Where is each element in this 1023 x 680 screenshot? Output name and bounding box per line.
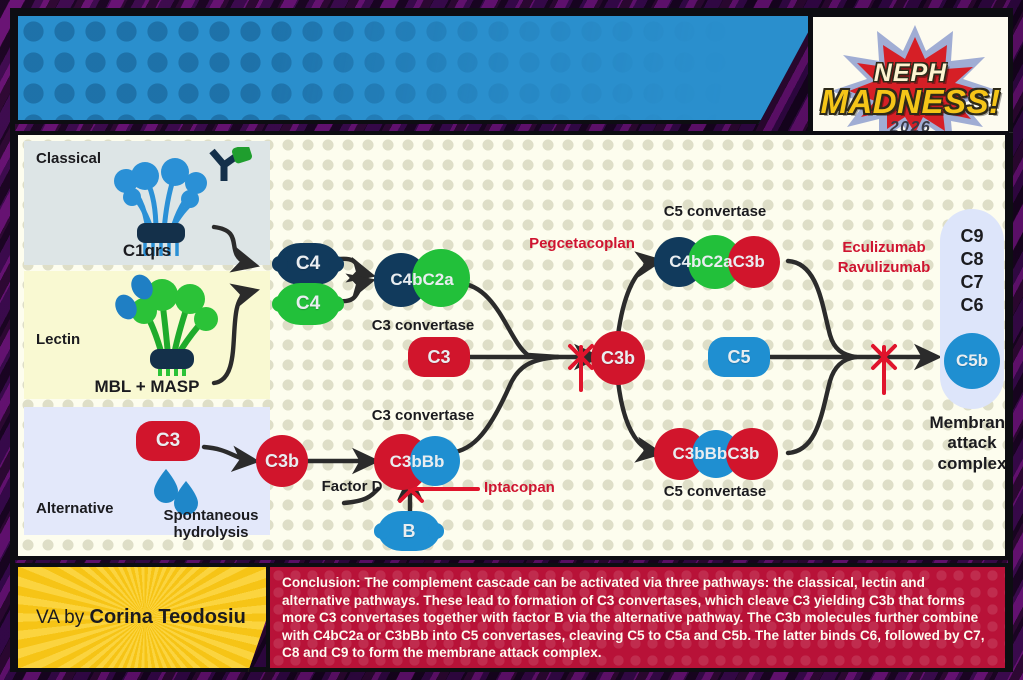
conclusion-panel: Conclusion: The complement cascade can b… bbox=[266, 563, 1009, 672]
node-c5b: C5b bbox=[944, 333, 1000, 389]
node-c4bc2a: C4bC2a bbox=[374, 249, 466, 311]
logo-line-madness: MADNESS! bbox=[813, 83, 1008, 121]
logo-artwork: NEPH MADNESS! 2026 bbox=[813, 21, 1008, 141]
molecule-label-mbl-masp: MBL + MASP bbox=[24, 377, 270, 397]
node-c3bbbc3b: C3bBbC3b bbox=[654, 427, 788, 481]
node-c3b-alternative: C3b bbox=[256, 435, 308, 487]
label-c3-convertase-bottom: C3 convertase bbox=[348, 407, 498, 424]
credit-prefix: VA by bbox=[36, 607, 90, 628]
label-c5-convertase-top: C5 convertase bbox=[630, 203, 800, 220]
node-c3b-center: C3b bbox=[591, 331, 645, 385]
label-membrane-attack-complex: Membrane attack complex bbox=[912, 413, 1009, 474]
diagram-canvas: Classical bbox=[14, 131, 1009, 560]
panel-classical-pathway: Classical bbox=[24, 141, 270, 265]
infographic-root: The Complement Cascade NEPH MADNESS! 202… bbox=[0, 0, 1023, 680]
node-c5: C5 bbox=[708, 337, 770, 377]
label-c3-convertase-top: C3 convertase bbox=[348, 317, 498, 334]
mbl-masp-molecule-icon bbox=[106, 271, 256, 376]
panel-label-alternative: Alternative bbox=[36, 500, 114, 517]
node-c4-lectin: C4 bbox=[276, 283, 340, 325]
panel-lectin-pathway: Lectin bbox=[24, 271, 270, 399]
drug-label-iptacopan: Iptacopan bbox=[484, 479, 614, 496]
conclusion-text: Conclusion: The complement cascade can b… bbox=[282, 575, 985, 660]
drug-label-ravulizumab: Ravulizumab bbox=[804, 259, 964, 276]
mac-label-c6: C6 bbox=[940, 294, 1004, 317]
panel-label-lectin: Lectin bbox=[36, 331, 80, 348]
drug-label-pegcetacoplan: Pegcetacoplan bbox=[496, 235, 668, 252]
halftone-dots-pattern bbox=[18, 16, 815, 120]
node-c4bc2ac3b: C4bC2aC3b bbox=[654, 235, 788, 289]
molecule-label-c1qrs: C1qrs bbox=[24, 241, 270, 261]
molecule-label-spontaneous-hydrolysis: Spontaneous hydrolysis bbox=[146, 508, 276, 541]
credit-author: Corina Teodosiu bbox=[90, 606, 246, 628]
node-c3: C3 bbox=[408, 337, 470, 377]
drug-label-eculizumab: Eculizumab bbox=[804, 239, 964, 256]
panel-label-classical: Classical bbox=[36, 150, 101, 167]
node-factor-b: B bbox=[378, 511, 440, 551]
credit-text: VA by Corina Teodosiu bbox=[18, 606, 246, 629]
credit-badge: VA by Corina Teodosiu bbox=[14, 563, 286, 672]
panel-alternative-pathway: Alternative C3 Spontaneous hydrolysis bbox=[24, 407, 270, 535]
label-c5-convertase-bottom: C5 convertase bbox=[630, 483, 800, 500]
label-factor-d: Factor D bbox=[318, 479, 386, 496]
node-c4-classical: C4 bbox=[276, 243, 340, 285]
antibody-icon bbox=[212, 147, 253, 181]
header-banner bbox=[14, 12, 819, 124]
